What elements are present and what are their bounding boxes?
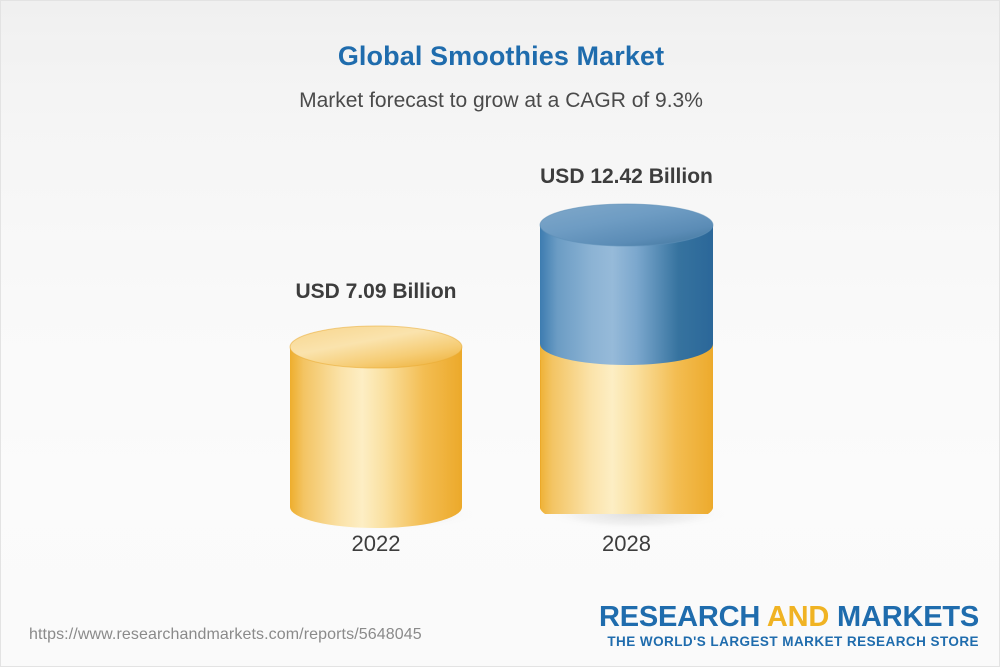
research-and-markets-logo[interactable]: RESEARCH AND MARKETS THE WORLD'S LARGEST… xyxy=(599,602,979,649)
cylinder-body-2022 xyxy=(290,347,462,528)
cylinder-2028 xyxy=(538,204,715,541)
infographic-canvas: Global Smoothies Market Market forecast … xyxy=(0,0,1000,667)
logo-text-research: RESEARCH xyxy=(599,601,767,633)
logo-tagline: THE WORLD'S LARGEST MARKET RESEARCH STOR… xyxy=(599,634,979,649)
logo-wordmark: RESEARCH AND MARKETS xyxy=(599,602,979,632)
axis-label-2028: 2028 xyxy=(498,531,755,557)
report-url[interactable]: https://www.researchandmarkets.com/repor… xyxy=(29,626,422,644)
axis-label-2022: 2022 xyxy=(249,531,503,557)
cylinder-body-2028-base xyxy=(538,344,715,514)
cylinder-2022 xyxy=(289,326,463,541)
chart-plot-area: USD 7.09 Billion xyxy=(1,1,1000,601)
value-label-2022: USD 7.09 Billion xyxy=(249,280,503,304)
value-label-2028: USD 12.42 Billion xyxy=(498,165,755,189)
logo-text-and: AND xyxy=(767,601,829,633)
logo-text-markets: MARKETS xyxy=(829,601,979,633)
